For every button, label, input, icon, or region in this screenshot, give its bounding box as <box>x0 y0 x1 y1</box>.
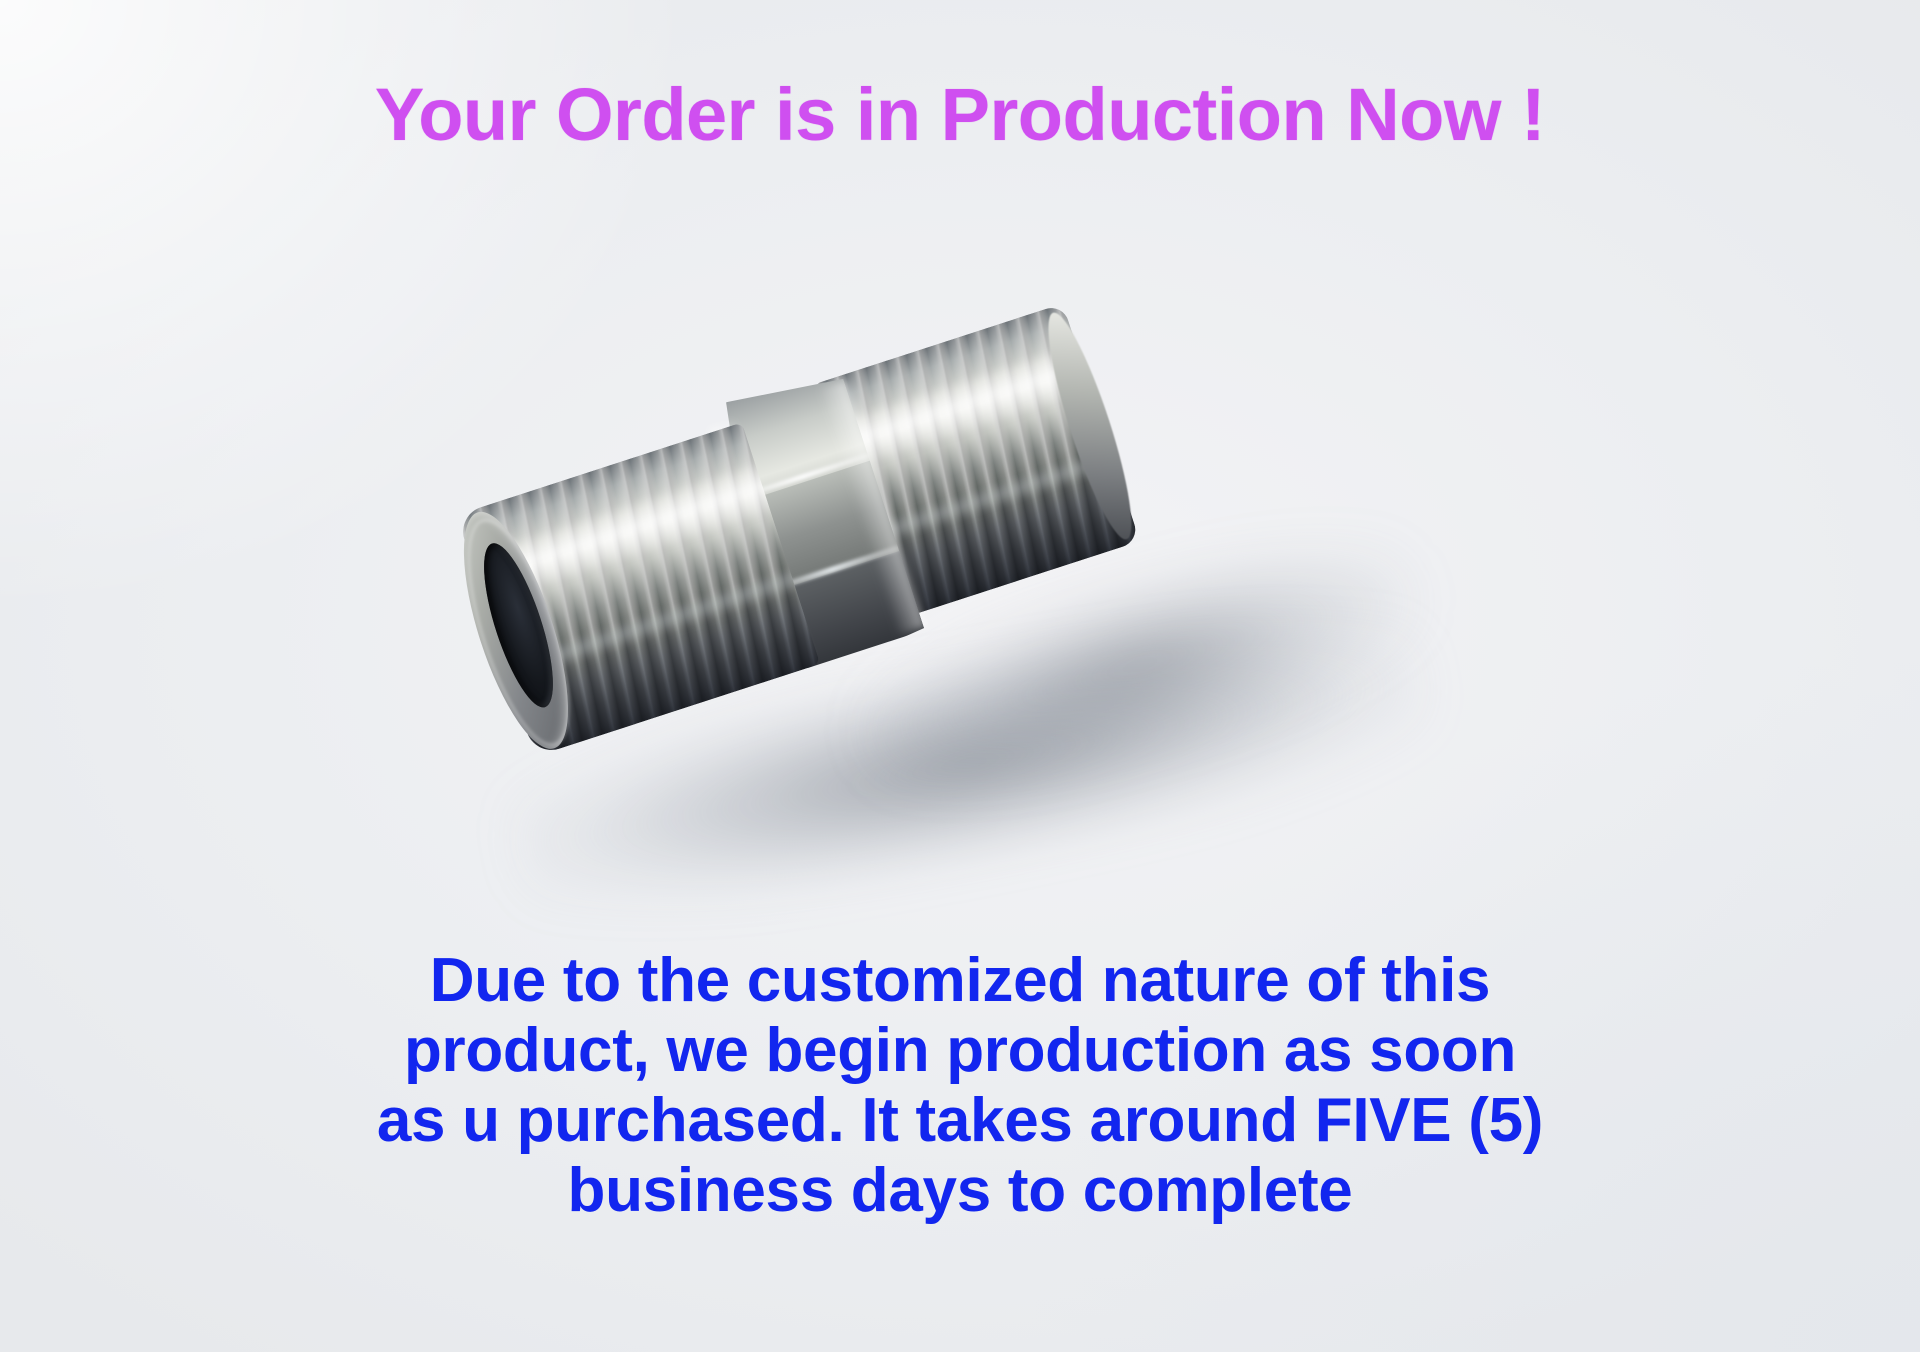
page-title: Your Order is in Production Now ! <box>0 78 1920 152</box>
body-copy: Due to the customized nature of this pro… <box>0 946 1920 1226</box>
body-copy-line-4: business days to complete <box>0 1156 1920 1226</box>
body-copy-line-2: product, we begin production as soon <box>0 1016 1920 1086</box>
body-copy-line-3: as u purchased. It takes around FIVE (5) <box>0 1086 1920 1156</box>
body-copy-line-1: Due to the customized nature of this <box>0 946 1920 1016</box>
product-photo <box>430 300 1510 940</box>
promo-image-canvas: Your Order is in Production Now ! <box>0 0 1920 1352</box>
